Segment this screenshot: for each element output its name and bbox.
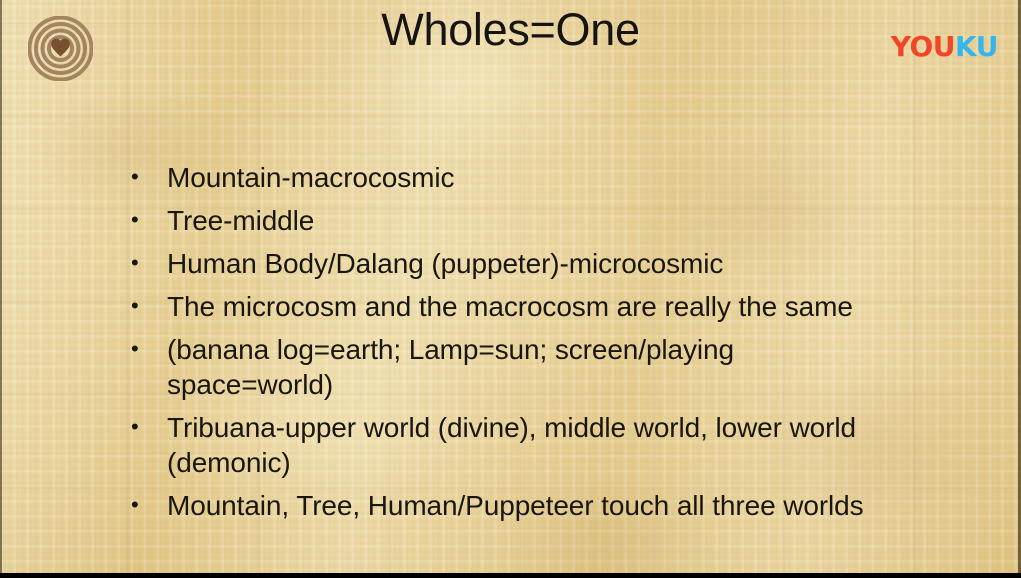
bullet-marker-icon: • [131,410,167,443]
bullet-item: • Mountain-macrocosmic [131,160,961,195]
slide-bullet-list: • Mountain-macrocosmic • Tree-middle • H… [131,160,961,531]
frame-edge-bottom [0,573,1021,578]
bullet-item: • Tree-middle [131,203,961,238]
bullet-text: Mountain, Tree, Human/Puppeteer touch al… [167,488,867,523]
bullet-text: Mountain-macrocosmic [167,160,887,195]
bullet-marker-icon: • [131,203,167,236]
bullet-item: • The microcosm and the macrocosm are re… [131,289,961,324]
bullet-text: Human Body/Dalang (puppeter)-microcosmic [167,246,887,281]
bullet-text: The microcosm and the macrocosm are real… [167,289,961,324]
bullet-item: • (banana log=earth; Lamp=sun; screen/pl… [131,332,961,402]
bullet-item: • Mountain, Tree, Human/Puppeteer touch … [131,488,961,523]
bullet-item: • Tribuana-upper world (divine), middle … [131,410,961,480]
bullet-marker-icon: • [131,246,167,279]
bullet-text: Tribuana-upper world (divine), middle wo… [167,410,879,480]
bullet-marker-icon: • [131,488,167,521]
bullet-marker-icon: • [131,160,167,193]
slide-title: Wholes=One [0,6,1021,53]
bullet-marker-icon: • [131,289,167,322]
bullet-marker-icon: • [131,332,167,365]
bullet-text: Tree-middle [167,203,887,238]
presentation-slide: YOUKU Wholes=One • Mountain-macrocosmic … [0,0,1021,578]
frame-edge-left [0,0,2,578]
bullet-text: (banana log=earth; Lamp=sun; screen/play… [167,332,807,402]
bullet-item: • Human Body/Dalang (puppeter)-microcosm… [131,246,961,281]
